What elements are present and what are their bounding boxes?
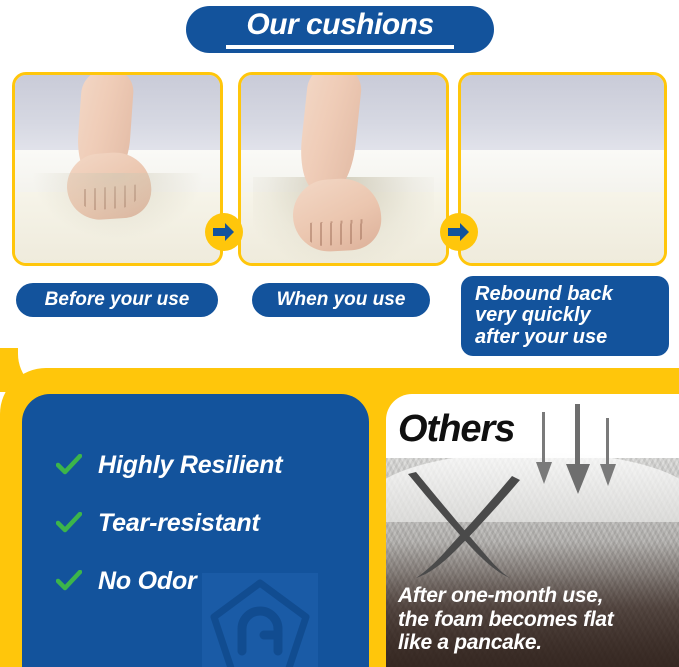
check-icon <box>56 570 82 592</box>
others-title: Others <box>398 408 514 451</box>
others-comparison-card: Others After one-month use, the foam bec… <box>386 394 679 667</box>
during-use-photo <box>238 72 449 266</box>
feature-item-tear-resistant: Tear-resistant <box>56 494 359 552</box>
caption-rebound-line1: Rebound back <box>475 284 613 306</box>
features-panel: Highly Resilient Tear-resistant No Odor <box>22 394 369 667</box>
others-caption-line1: After one-month use, <box>398 584 671 608</box>
demo-panel-row <box>0 72 679 268</box>
arrow-badge-2 <box>440 213 478 251</box>
caption-rebound-line2: very quickly <box>475 305 591 327</box>
caption-before-use-label: Before your use <box>45 289 190 311</box>
others-caption: After one-month use, the foam becomes fl… <box>398 584 671 655</box>
foam-front-face <box>461 192 664 263</box>
before-use-photo <box>12 72 223 266</box>
pentagon-logo-watermark <box>202 573 318 667</box>
product-infographic: Our cushions <box>0 0 679 667</box>
photo-before <box>15 75 220 263</box>
arrow-right-icon <box>213 222 235 242</box>
feature-label: Tear-resistant <box>98 509 260 538</box>
caption-during-use: When you use <box>252 283 430 317</box>
photo-during <box>241 75 446 263</box>
x-cross-icon <box>394 466 544 584</box>
check-icon <box>56 512 82 534</box>
photo-after <box>461 75 664 263</box>
title-underline <box>226 45 454 49</box>
feature-label: No Odor <box>98 567 197 596</box>
check-icon <box>56 454 82 476</box>
others-caption-line2: the foam becomes flat <box>398 608 671 632</box>
caption-before-use: Before your use <box>16 283 218 317</box>
feature-label: Highly Resilient <box>98 451 282 480</box>
arrow-right-icon <box>448 222 470 242</box>
foam-shadow <box>31 173 203 241</box>
caption-rebound-line3: after your use <box>475 327 607 349</box>
others-caption-line3: like a pancake. <box>398 631 671 655</box>
caption-rebound: Rebound back very quickly after your use <box>461 276 669 356</box>
page-title: Our cushions <box>246 10 433 42</box>
arrow-down-icon <box>564 404 592 498</box>
arrow-down-icon <box>598 418 618 490</box>
arrow-badge-1 <box>205 213 243 251</box>
after-use-photo <box>458 72 667 266</box>
photo-background-wall <box>461 75 664 154</box>
caption-during-use-label: When you use <box>277 289 406 311</box>
feature-item-highly-resilient: Highly Resilient <box>56 436 359 494</box>
page-title-banner: Our cushions <box>186 6 494 53</box>
